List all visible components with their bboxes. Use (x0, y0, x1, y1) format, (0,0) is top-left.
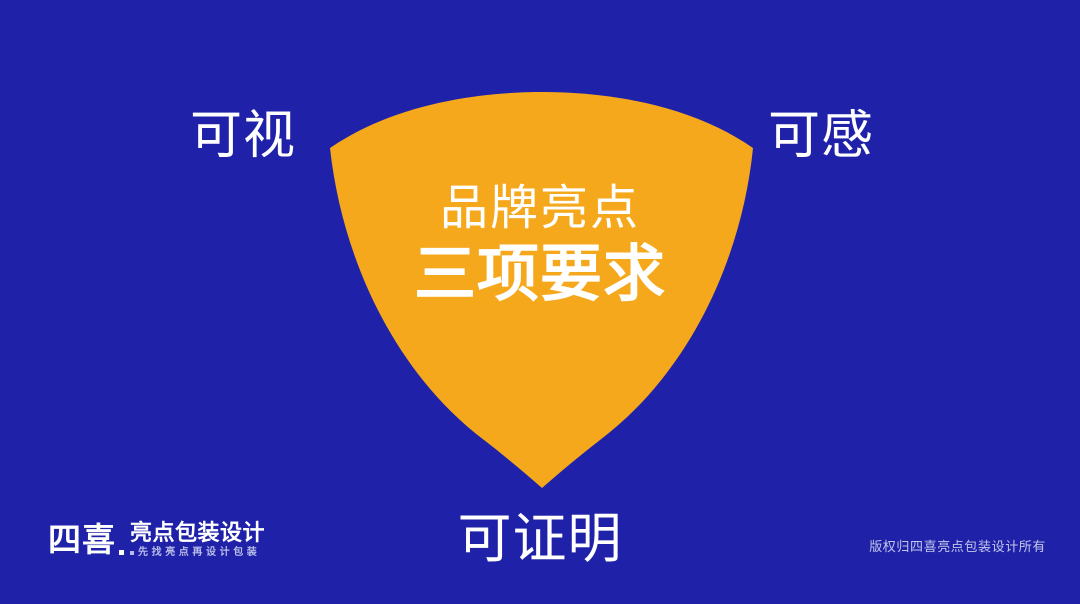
brand-logo: 四喜 亮点包装设计 先找亮点再设计包装 (48, 521, 265, 558)
brand-logo-bullet-icon (130, 551, 134, 555)
requirement-label-feelable: 可感 (768, 110, 874, 162)
brand-logo-dot-icon (119, 550, 124, 555)
brand-logo-name: 亮点包装设计 (130, 521, 265, 544)
brand-logo-mark: 四喜 (48, 521, 116, 556)
copyright-notice: 版权归四喜亮点包装设计所有 (869, 540, 1046, 553)
brand-logo-wordmark: 亮点包装设计 先找亮点再设计包装 (130, 521, 265, 558)
slide-canvas: 品牌亮点 三项要求 可视 可感 可证明 四喜 亮点包装设计 先找亮点再设计包装 … (0, 0, 1080, 604)
brand-logo-tagline-row: 先找亮点再设计包装 (130, 548, 265, 558)
requirement-label-visible: 可视 (190, 110, 296, 162)
brand-logo-tagline: 先找亮点再设计包装 (138, 548, 260, 558)
